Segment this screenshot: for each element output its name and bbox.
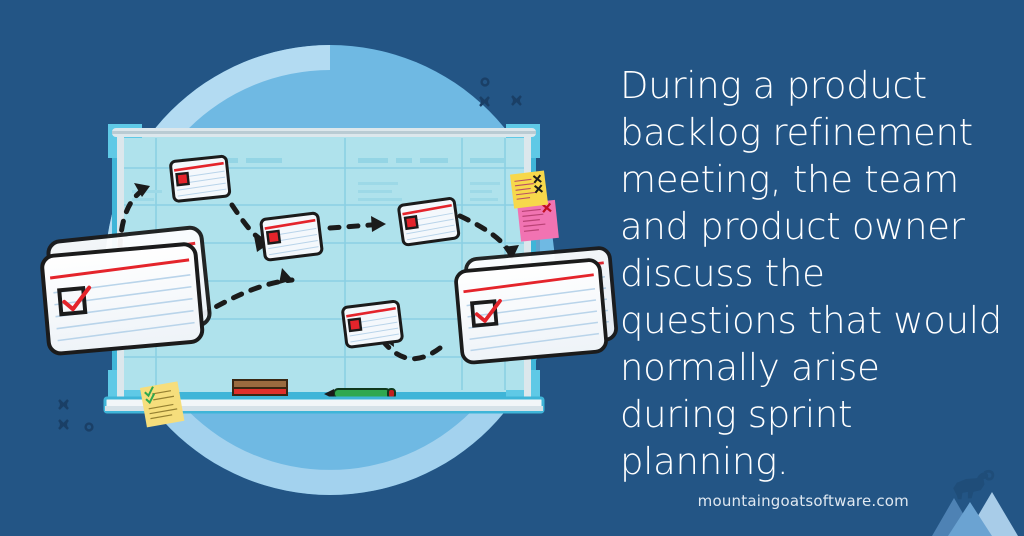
decor-bowtie-bottom-a xyxy=(59,400,68,409)
decor-bowtie-bottom-b xyxy=(59,420,68,429)
decor-bowtie-top-b xyxy=(512,96,521,105)
whiteboard-illustration xyxy=(0,0,620,536)
sticky-note-yellow xyxy=(510,170,548,208)
footer-url: mountaingoatsoftware.com xyxy=(698,492,909,510)
quote-text: During a product backlog refinement meet… xyxy=(620,62,1004,485)
mountain-goat-logo xyxy=(914,464,1024,536)
decor-circle-top xyxy=(482,79,489,86)
decor-circle-bottom xyxy=(86,424,93,431)
story-card-small-2[interactable] xyxy=(261,213,323,261)
slide-canvas: During a product backlog refinement meet… xyxy=(0,0,1024,536)
story-card-large-left[interactable] xyxy=(41,227,210,355)
sticky-note-tray xyxy=(140,381,184,427)
story-card-small-3[interactable] xyxy=(398,198,459,245)
story-card-small-1[interactable] xyxy=(170,156,230,202)
decor-bowtie-top-a xyxy=(480,97,489,106)
goat-icon xyxy=(953,471,993,499)
story-card-small-4[interactable] xyxy=(342,301,402,348)
story-card-large-right[interactable] xyxy=(455,247,617,363)
